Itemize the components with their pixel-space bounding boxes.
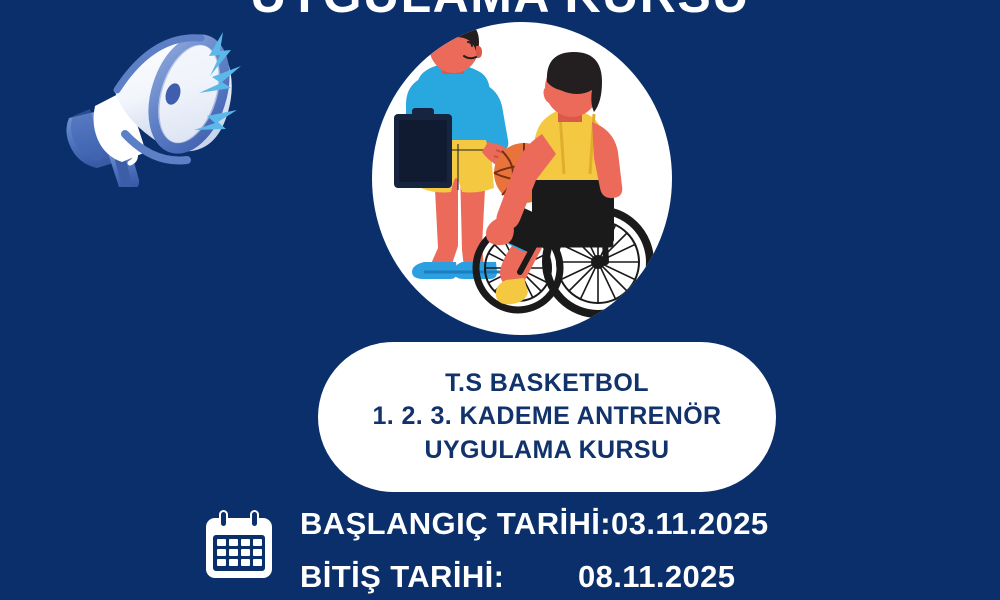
end-date-value: 08.11.2025 [578, 559, 735, 595]
pill-line-3: UYGULAMA KURSU [425, 434, 670, 468]
start-date-value: 03.11.2025 [611, 506, 768, 542]
poster-root: UYGULAMA KURSU [0, 0, 1000, 600]
megaphone-icon [55, 22, 250, 187]
course-title-pill: T.S BASKETBOL 1. 2. 3. KADEME ANTRENÖR U… [318, 342, 776, 492]
poster-headline: UYGULAMA KURSU [0, 0, 1000, 24]
date-rows: BAŞLANGIÇ TARİHİ: 03.11.2025 BİTİŞ TARİH… [300, 502, 769, 600]
pill-line-2: 1. 2. 3. KADEME ANTRENÖR [372, 400, 721, 434]
calendar-icon [200, 508, 278, 586]
start-date-row: BAŞLANGIÇ TARİHİ: 03.11.2025 [300, 506, 769, 542]
illustration-artwork [372, 22, 672, 335]
start-date-label: BAŞLANGIÇ TARİHİ: [300, 506, 611, 542]
end-date-label: BİTİŞ TARİHİ: [300, 559, 578, 595]
pill-line-1: T.S BASKETBOL [445, 367, 649, 401]
date-block: BAŞLANGIÇ TARİHİ: 03.11.2025 BİTİŞ TARİH… [200, 502, 840, 600]
wheelchair-basketball-illustration [372, 22, 672, 335]
end-date-row: BİTİŞ TARİHİ: 08.11.2025 [300, 559, 769, 595]
